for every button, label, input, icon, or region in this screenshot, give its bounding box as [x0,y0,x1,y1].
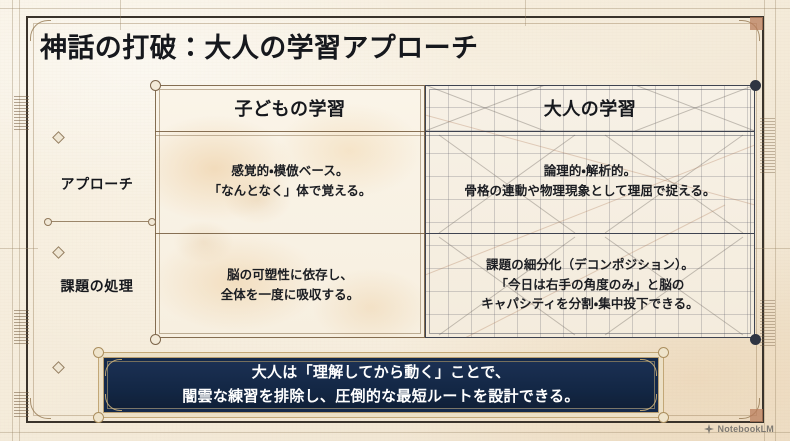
header-label-adult: 大人の学習 [544,95,637,121]
sparkle-icon [704,424,714,434]
cell-line: 全体を一度に吸収する。 [221,286,360,306]
row-label-task-handling: 課題の処理 [42,276,152,296]
cell-line: 論理的・解析的。 [464,162,715,182]
banner-text: 大人は「理解してから動く」ことで、 闇雲な練習を排除し、圧倒的な最短ルートを設計… [98,352,664,418]
header-cell-child: 子どもの学習 [155,85,425,131]
banner-line-1: 大人は「理解してから動く」ことで、 [252,361,511,385]
cell-child-task-text: 脳の可塑性に依存し、 全体を一度に吸収する。 [221,266,360,306]
notebooklm-watermark-label: NotebookLM [718,424,775,434]
cell-child-approach-text: 感覚的・模倣ベース。 「なんとなく」体で覚える。 [208,162,371,202]
cell-adult-task-text: 課題の細分化（デコンポジション）。 「今日は右手の角度のみ」と脳の キャパシティ… [481,256,699,315]
cell-adult-task: 課題の細分化（デコンポジション）。 「今日は右手の角度のみ」と脳の キャパシティ… [425,233,755,338]
cell-line: 感覚的・模倣ベース。 [208,162,371,182]
row-label-approach: アプローチ [42,174,152,194]
cell-line: 骨格の連動や物理現象として理屈で捉える。 [464,182,715,202]
cell-line: 課題の細分化（デコンポジション）。 [481,256,699,276]
cell-line: 「今日は右手の角度のみ」と脳の [481,276,699,296]
header-cell-adult: 大人の学習 [425,85,755,131]
cell-line: 脳の可塑性に依存し、 [221,266,360,286]
cell-line: 「なんとなく」体で覚える。 [208,182,371,202]
cell-child-task: 脳の可塑性に依存し、 全体を一度に吸収する。 [155,233,425,338]
cell-line: キャパシティを分割・集中投下できる。 [481,295,699,315]
slide-canvas: 神話の打破：大人の学習アプローチ アプローチ 課題の処理 [0,0,790,441]
conclusion-banner: 大人は「理解してから動く」ことで、 闇雲な練習を排除し、圧倒的な最短ルートを設計… [98,352,664,418]
notebooklm-watermark: NotebookLM [704,424,775,434]
header-label-child: 子どもの学習 [235,95,346,121]
page-title: 神話の打破：大人の学習アプローチ [40,26,478,65]
cell-adult-approach: 論理的・解析的。 骨格の連動や物理現象として理屈で捉える。 [425,131,755,233]
cell-child-approach: 感覚的・模倣ベース。 「なんとなく」体で覚える。 [155,131,425,233]
comparison-table: 子どもの学習 大人の学習 感覚的・模倣ベース。 「なんとなく」体で覚える。 論理… [155,85,755,338]
banner-line-2: 闇雲な練習を排除し、圧倒的な最短ルートを設計できる。 [182,385,580,409]
cell-adult-approach-text: 論理的・解析的。 骨格の連動や物理現象として理屈で捉える。 [464,162,715,202]
